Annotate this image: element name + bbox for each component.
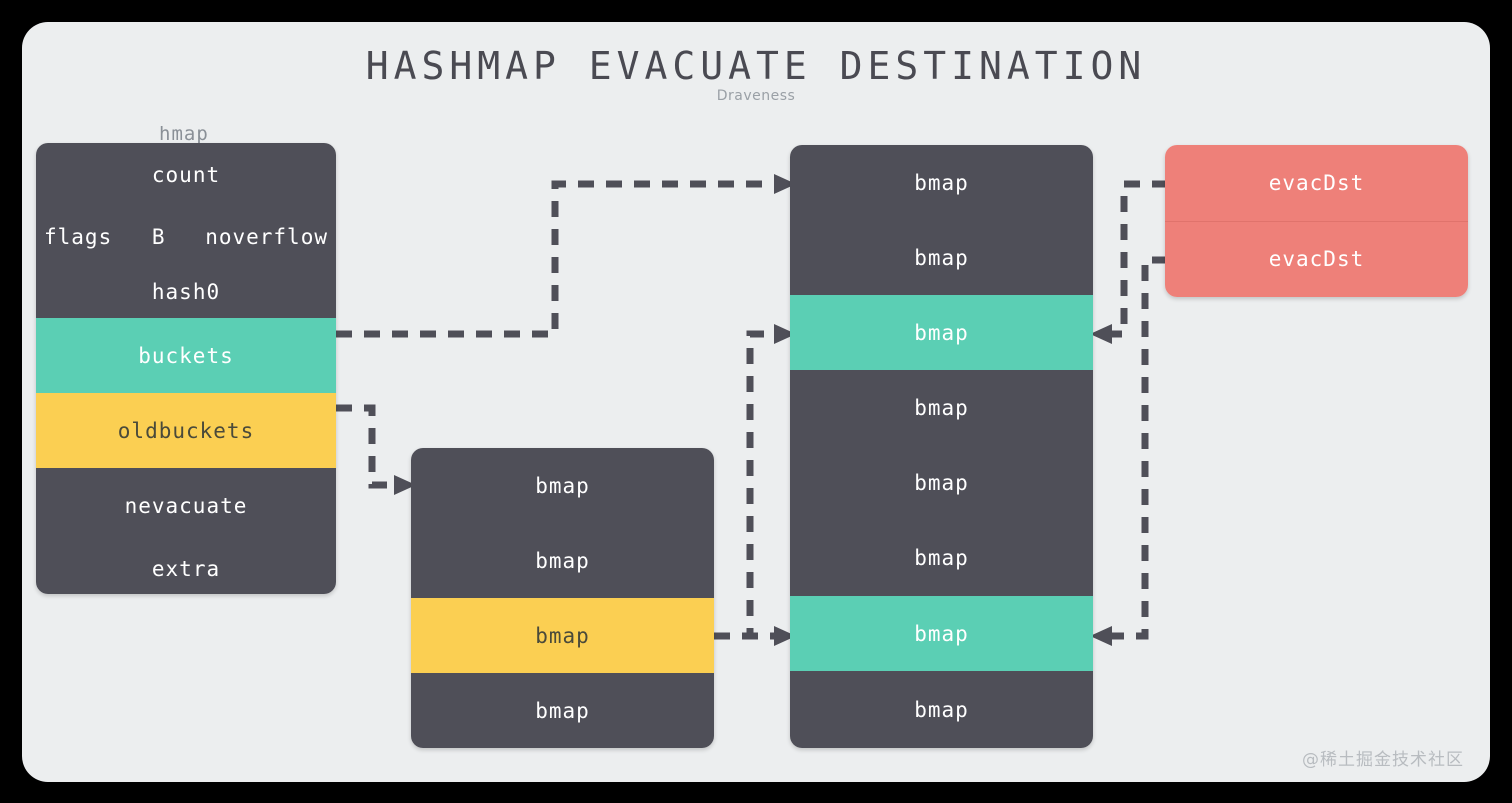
buckets-array[interactable]: bmap bmap bmap bmap bmap bmap bmap bmap — [790, 145, 1093, 748]
page-title: HASHMAP EVACUATE DESTINATION — [22, 44, 1490, 88]
buckets-row-1[interactable]: bmap — [790, 220, 1093, 295]
buckets-row-4[interactable]: bmap — [790, 445, 1093, 520]
buckets-row-5[interactable]: bmap — [790, 520, 1093, 596]
oldbuckets-array[interactable]: bmap bmap bmap bmap — [411, 448, 714, 748]
diagram-card: HASHMAP EVACUATE DESTINATION Draveness — [22, 22, 1490, 782]
watermark: @稀土掘金技术社区 — [1302, 745, 1464, 770]
hmap-field-flags: flags — [44, 225, 112, 249]
page-subtitle: Draveness — [22, 88, 1490, 104]
hmap-row-nevacuate[interactable]: nevacuate — [36, 468, 336, 543]
hmap-field-noverflow: noverflow — [205, 225, 328, 249]
oldbuckets-row-0[interactable]: bmap — [411, 448, 714, 523]
hmap-row-hash0[interactable]: hash0 — [36, 266, 336, 318]
hmap-row-flags-b-noverflow[interactable]: flags B noverflow — [36, 207, 336, 266]
buckets-row-2[interactable]: bmap — [790, 295, 1093, 370]
screenshot-canvas: HASHMAP EVACUATE DESTINATION Draveness — [0, 0, 1512, 803]
arrow-oldbmap-to-teal-upper — [714, 324, 796, 636]
hmap-row-extra[interactable]: extra — [36, 543, 336, 594]
hmap-row-buckets[interactable]: buckets — [36, 318, 336, 393]
hmap-label: hmap — [159, 123, 209, 145]
buckets-row-0[interactable]: bmap — [790, 145, 1093, 220]
hmap-row-count[interactable]: count — [36, 143, 336, 207]
hmap-row-oldbuckets[interactable]: oldbuckets — [36, 393, 336, 468]
buckets-row-6[interactable]: bmap — [790, 596, 1093, 671]
hmap-field-b: B — [152, 225, 166, 249]
arrow-evacdst1-to-teal-upper — [1090, 184, 1168, 344]
evacdst-struct[interactable]: evacDst evacDst — [1165, 145, 1468, 297]
hmap-struct[interactable]: count flags B noverflow hash0 buckets ol… — [36, 143, 336, 594]
arrow-evacdst2-to-teal-lower — [1090, 260, 1168, 646]
oldbuckets-row-3[interactable]: bmap — [411, 673, 714, 748]
arrow-buckets-to-bucketsarray — [336, 174, 796, 334]
buckets-row-7[interactable]: bmap — [790, 671, 1093, 748]
oldbuckets-row-1[interactable]: bmap — [411, 523, 714, 598]
buckets-row-3[interactable]: bmap — [790, 370, 1093, 445]
arrow-oldbuckets-to-oldbucketsarray — [336, 408, 416, 495]
evacdst-row-0[interactable]: evacDst — [1165, 145, 1468, 221]
evacdst-row-1[interactable]: evacDst — [1165, 221, 1468, 297]
arrow-oldbmap-to-teal-lower — [714, 626, 796, 646]
oldbuckets-row-2[interactable]: bmap — [411, 598, 714, 673]
